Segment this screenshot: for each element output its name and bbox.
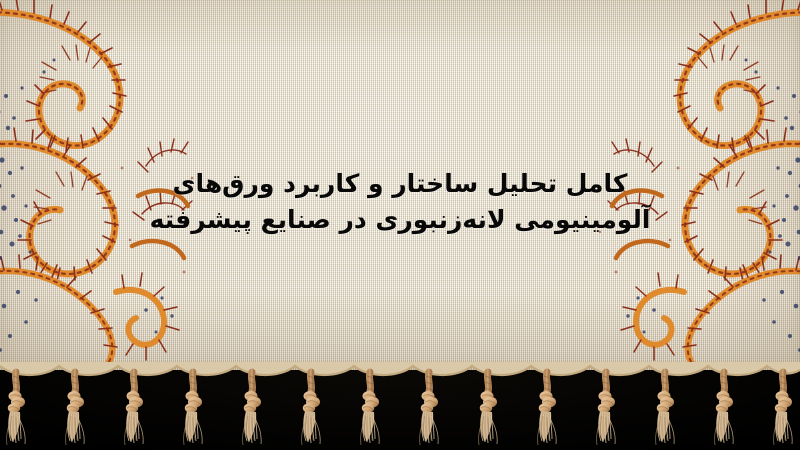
title-line-1: کامل تحلیل ساختار و کاربرد ورق‌های xyxy=(0,166,800,202)
title-line-2: آلومینیومی لانه‌زنبوری در صنایع پیشرفته xyxy=(0,202,800,238)
black-background-ground xyxy=(0,370,800,450)
textile-title-banner: کامل تحلیل ساختار و کاربرد ورق‌های آلومی… xyxy=(0,0,800,450)
title-block: کامل تحلیل ساختار و کاربرد ورق‌های آلومی… xyxy=(0,166,800,238)
